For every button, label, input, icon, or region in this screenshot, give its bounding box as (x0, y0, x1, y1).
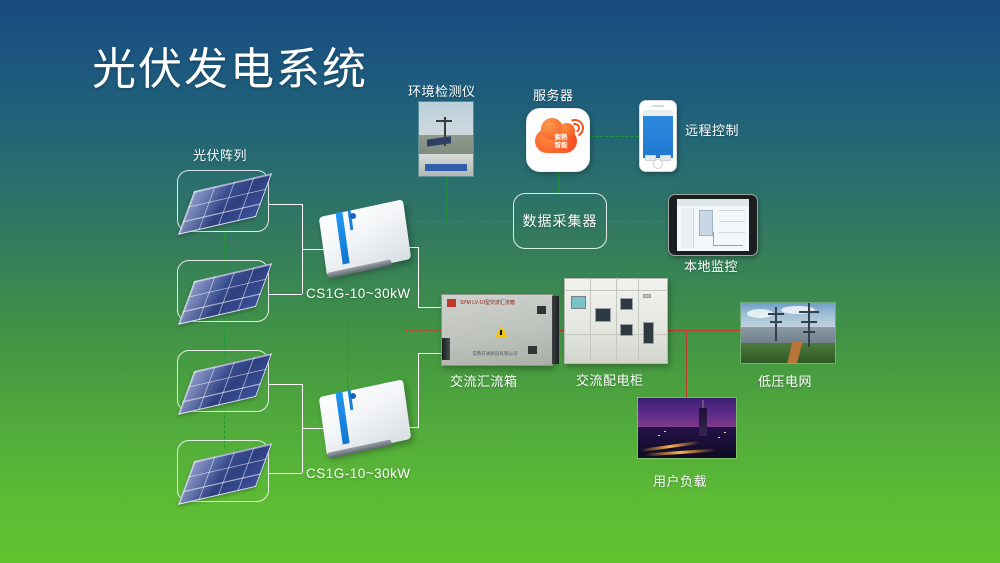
ac-combiner-label: 交流汇流箱 (450, 371, 518, 390)
local-monitor-tablet[interactable] (668, 194, 758, 256)
power-line-inv2-up (418, 353, 419, 428)
data-collector-label: 数据采集器 (514, 194, 606, 248)
comm-line-collector-localmonitor (607, 221, 668, 222)
diagram-canvas: 光伏发电系统 光伏阵列 (0, 0, 1000, 563)
power-line-pv3-out (269, 384, 302, 385)
comm-line-server-collector (558, 172, 559, 193)
cabinet-hmi-screen[interactable] (571, 296, 586, 309)
user-load-photo[interactable] (637, 397, 737, 459)
remote-control-label: 远程控制 (685, 120, 739, 139)
combiner-cable-entry (442, 338, 450, 360)
power-line-pv1-out (269, 204, 302, 205)
cabinet-meter (620, 324, 633, 336)
tablet-gridline (719, 221, 745, 222)
power-line-pv4-out (269, 473, 302, 474)
ac-combiner-box[interactable]: SPM LV-10型交流汇流箱 常熟开关制造有限公司 (441, 294, 553, 366)
combiner-side-panel (552, 296, 559, 364)
phone-screen (643, 110, 673, 158)
ac-distribution-cabinet[interactable] (564, 278, 668, 364)
tablet-sidebar (681, 208, 694, 248)
cabinet-breaker (643, 322, 654, 344)
remote-control-phone[interactable] (639, 100, 677, 172)
combiner-brand-logo (447, 299, 456, 307)
pv-panel-3[interactable] (177, 350, 269, 412)
comm-line-env-down (446, 177, 447, 221)
server-icon-text: 索熟智能 (549, 134, 573, 149)
combiner-sub-text: 常熟开关制造有限公司 (472, 351, 517, 357)
load-photo-window (658, 435, 660, 437)
pv-panel-2[interactable] (177, 260, 269, 322)
phone-statusbar (643, 110, 673, 116)
server-label: 服务器 (533, 85, 574, 104)
load-photo-window (664, 431, 666, 433)
env-photo-sky (419, 102, 473, 135)
env-photo-sensor-arm (436, 120, 452, 122)
ac-line-combiner-left-stub (405, 330, 442, 331)
load-photo-window (724, 432, 726, 434)
inverter-top[interactable] (322, 208, 408, 268)
load-photo-window (718, 437, 720, 439)
inverter-top-label: CS1G-10~30kW (306, 286, 411, 301)
tablet-chart-curve (713, 232, 743, 246)
comm-line-server-phone (590, 136, 639, 137)
power-line-inv1-combiner (418, 307, 443, 308)
ac-line-branch-load (686, 330, 687, 398)
cabinet-divider (564, 290, 668, 291)
pv-panel-4[interactable] (177, 440, 269, 502)
cabinet-meter (620, 298, 633, 310)
page-title: 光伏发电系统 (92, 48, 368, 92)
lv-grid-label: 低压电网 (758, 371, 812, 390)
phone-speaker (652, 105, 664, 107)
local-monitor-label: 本地监控 (684, 256, 738, 275)
ac-line-cabinet-grid (665, 330, 743, 331)
user-load-label: 用户负载 (653, 471, 707, 490)
ac-cabinet-label: 交流配电柜 (576, 370, 644, 389)
pv-array-label: 光伏阵列 (193, 145, 247, 164)
tablet-screen (677, 199, 749, 251)
env-monitor-label: 环境检测仪 (408, 81, 476, 100)
data-collector-box[interactable]: 数据采集器 (513, 193, 607, 249)
env-monitor-photo[interactable] (418, 101, 474, 177)
pv-panel-1[interactable] (177, 170, 269, 232)
load-photo-tower (699, 408, 707, 437)
cabinet-meter (595, 308, 611, 322)
inverter-bottom[interactable] (322, 388, 408, 448)
env-photo-base (425, 164, 466, 171)
power-line-pv2-out (269, 294, 302, 295)
lv-grid-photo[interactable] (740, 302, 836, 364)
cabinet-switch (643, 294, 651, 298)
combiner-panel-text: SPM LV-10型交流汇流箱 (460, 299, 515, 306)
power-line-inv2-combiner (418, 353, 443, 354)
power-line-inv1-down (418, 247, 419, 307)
combiner-vent-b (528, 346, 537, 354)
server-cloud-icon[interactable]: 索熟智能 (526, 108, 590, 172)
combiner-vent-a (537, 306, 546, 314)
tablet-gridline (719, 210, 745, 211)
inverter-bottom-label: CS1G-10~30kW (306, 466, 411, 481)
tablet-toolbar (677, 199, 749, 206)
phone-home-button[interactable] (653, 159, 663, 169)
tablet-window (699, 210, 713, 236)
